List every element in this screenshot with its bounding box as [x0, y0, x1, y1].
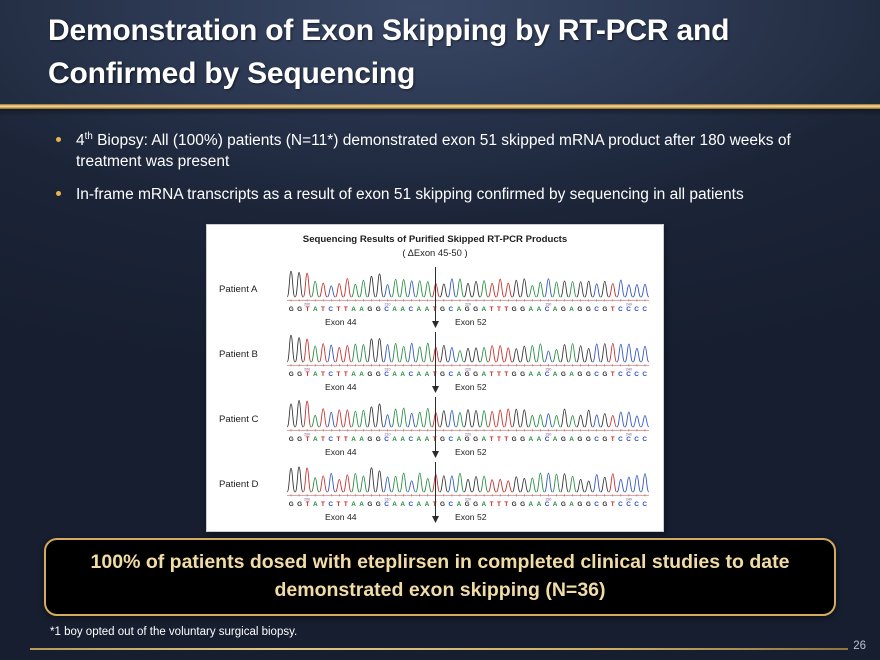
base-letter: A	[311, 436, 319, 447]
base-letter: C	[327, 501, 335, 512]
base-letter: G	[559, 501, 567, 512]
base-letter: C	[327, 306, 335, 317]
base-letter: A	[568, 436, 576, 447]
base-letter: T	[503, 371, 510, 382]
base-letter: G	[287, 501, 295, 512]
base-letter: G	[366, 371, 374, 382]
base-letter: A	[415, 306, 423, 317]
exon-right-label: Exon 52	[455, 382, 487, 392]
base-letter: C	[543, 501, 551, 512]
junction-arrow-icon	[429, 502, 442, 524]
base-letter: G	[559, 436, 567, 447]
base-letter: C	[593, 306, 601, 317]
exon-right-label: Exon 52	[455, 317, 487, 327]
table-row: Patient C 200210220230240 GGTATCTTAAGGCA…	[207, 393, 664, 458]
base-letter: A	[311, 501, 319, 512]
patient-label: Patient B	[219, 349, 258, 360]
base-letter: T	[495, 501, 502, 512]
base-letter: G	[510, 371, 518, 382]
base-letter: A	[480, 501, 488, 512]
base-letter: C	[327, 371, 335, 382]
base-letter: G	[374, 501, 382, 512]
base-letter: C	[593, 501, 601, 512]
junction-marker-line	[435, 267, 436, 307]
slide-root: Demonstration of Exon Skipping by RT-PCR…	[0, 0, 880, 660]
base-letter: C	[641, 371, 649, 382]
page-number: 26	[853, 640, 866, 652]
table-row: Patient D 200210220230240 GGTATCTTAAGGCA…	[207, 458, 664, 523]
bullet-superscript: th	[85, 131, 93, 142]
base-letter: T	[335, 436, 342, 447]
base-letter: T	[495, 306, 502, 317]
chromatogram-trace	[287, 462, 649, 496]
base-letter: A	[551, 306, 559, 317]
base-letter: A	[480, 371, 488, 382]
base-letter: C	[543, 436, 551, 447]
base-letter: C	[624, 501, 632, 512]
base-letter: C	[641, 501, 649, 512]
base-letter: G	[601, 501, 609, 512]
base-letter: C	[633, 371, 641, 382]
base-letter: A	[391, 371, 399, 382]
base-call-sequence: GGTATCTTAAGGCAACAATGCAGGATTTGGAACAGAGGCG…	[287, 501, 649, 512]
exon-right-label: Exon 52	[455, 512, 487, 522]
base-letter: T	[495, 436, 502, 447]
callout-text: 100% of patients dosed with eteplirsen i…	[80, 549, 800, 604]
base-letter: G	[518, 501, 526, 512]
base-letter: A	[551, 501, 559, 512]
footnote: *1 boy opted out of the voluntary surgic…	[50, 626, 297, 638]
base-letter: C	[593, 436, 601, 447]
base-position-ladder: 200210220230240	[287, 299, 649, 306]
figure-title: Sequencing Results of Purified Skipped R…	[207, 233, 663, 247]
base-letter: A	[568, 371, 576, 382]
base-letter: C	[447, 306, 455, 317]
base-letter: G	[366, 501, 374, 512]
figure-subtitle: ( ΔExon 45-50 )	[207, 246, 663, 260]
base-letter: G	[576, 371, 584, 382]
base-letter: G	[463, 306, 471, 317]
base-letter: C	[641, 306, 649, 317]
base-letter: C	[633, 501, 641, 512]
base-letter: A	[391, 306, 399, 317]
slide-header: Demonstration of Exon Skipping by RT-PCR…	[0, 0, 880, 104]
base-letter: G	[559, 371, 567, 382]
base-call-sequence: GGTATCTTAAGGCAACAATGCAGGATTTGGAACAGAGGCG…	[287, 436, 649, 447]
base-letter: G	[295, 306, 303, 317]
base-letter: C	[641, 436, 649, 447]
base-letter: G	[584, 371, 592, 382]
base-call-sequence: GGTATCTTAAGGCAACAATGCAGGATTTGGAACAGAGGCG…	[287, 306, 649, 317]
base-letter: A	[455, 306, 463, 317]
base-letter: T	[488, 306, 495, 317]
base-letter: A	[399, 436, 407, 447]
base-letter: A	[527, 501, 535, 512]
base-letter: C	[543, 306, 551, 317]
base-letter: C	[633, 306, 641, 317]
footer-gold-divider	[30, 648, 848, 650]
base-letter: C	[383, 306, 391, 317]
base-letter: A	[568, 501, 576, 512]
base-letter: G	[295, 501, 303, 512]
base-letter: C	[383, 436, 391, 447]
exon-left-label: Exon 44	[325, 382, 357, 392]
base-letter: C	[383, 371, 391, 382]
base-letter: G	[518, 371, 526, 382]
base-letter: T	[319, 501, 326, 512]
base-letter: T	[342, 436, 349, 447]
base-letter: T	[488, 436, 495, 447]
base-letter: C	[407, 501, 415, 512]
base-letter: T	[342, 501, 349, 512]
base-letter: G	[471, 371, 479, 382]
base-letter: A	[358, 371, 366, 382]
base-letter: A	[551, 371, 559, 382]
base-letter: G	[584, 306, 592, 317]
base-letter: G	[366, 306, 374, 317]
base-letter: G	[287, 306, 295, 317]
patient-label: Patient D	[219, 479, 258, 490]
base-letter: G	[463, 501, 471, 512]
base-letter: G	[471, 436, 479, 447]
bullet-prefix: 4	[76, 132, 85, 149]
base-letter: A	[358, 306, 366, 317]
bullet-text: Biopsy: All (100%) patients (N=11*) demo…	[76, 132, 791, 170]
base-letter: A	[349, 306, 357, 317]
base-letter: G	[366, 436, 374, 447]
base-letter: T	[335, 306, 342, 317]
base-letter: C	[407, 306, 415, 317]
base-letter: T	[335, 501, 342, 512]
base-letter: T	[304, 371, 311, 382]
base-letter: A	[399, 501, 407, 512]
base-letter: G	[518, 306, 526, 317]
base-letter: A	[415, 436, 423, 447]
sequencing-figure-panel: Sequencing Results of Purified Skipped R…	[206, 224, 664, 532]
base-letter: T	[342, 306, 349, 317]
base-letter: G	[601, 436, 609, 447]
base-letter: G	[374, 371, 382, 382]
base-letter: G	[374, 436, 382, 447]
base-letter: G	[559, 306, 567, 317]
base-position-ladder: 200210220230240	[287, 429, 649, 436]
bullet-dot-icon	[56, 137, 61, 142]
base-letter: A	[349, 501, 357, 512]
base-letter: G	[287, 436, 295, 447]
base-letter: T	[503, 306, 510, 317]
base-letter: A	[391, 501, 399, 512]
base-letter: T	[319, 306, 326, 317]
base-letter: A	[349, 436, 357, 447]
base-letter: C	[616, 501, 624, 512]
chromatogram-trace	[287, 397, 649, 431]
base-letter: C	[407, 371, 415, 382]
patient-label: Patient C	[219, 414, 258, 425]
bullet-dot-icon	[56, 191, 61, 196]
base-letter: T	[609, 436, 616, 447]
base-letter: G	[510, 501, 518, 512]
list-item: In-frame mRNA transcripts as a result of…	[52, 184, 852, 205]
base-letter: T	[609, 501, 616, 512]
base-letter: T	[304, 436, 311, 447]
base-letter: G	[601, 371, 609, 382]
base-letter: G	[576, 501, 584, 512]
base-letter: G	[295, 371, 303, 382]
base-letter: A	[455, 501, 463, 512]
base-letter: G	[584, 501, 592, 512]
exon-right-label: Exon 52	[455, 447, 487, 457]
base-letter: A	[358, 501, 366, 512]
base-call-sequence: GGTATCTTAAGGCAACAATGCAGGATTTGGAACAGAGGCG…	[287, 371, 649, 382]
junction-arrow-icon	[429, 437, 442, 459]
base-letter: C	[633, 436, 641, 447]
base-letter: A	[535, 306, 543, 317]
base-letter: A	[391, 436, 399, 447]
base-letter: G	[295, 436, 303, 447]
base-letter: G	[576, 306, 584, 317]
base-letter: G	[471, 306, 479, 317]
base-letter: C	[624, 371, 632, 382]
chromatogram-trace	[287, 332, 649, 366]
base-letter: A	[415, 501, 423, 512]
base-letter: G	[471, 501, 479, 512]
table-row: Patient A 200210220230240 GGTATCTTAAGGCA…	[207, 263, 664, 328]
base-letter: A	[399, 306, 407, 317]
base-letter: A	[415, 371, 423, 382]
base-letter: A	[551, 436, 559, 447]
table-row: Patient B 200210220230240 GGTATCTTAAGGCA…	[207, 328, 664, 393]
base-letter: A	[311, 306, 319, 317]
base-letter: A	[455, 371, 463, 382]
base-letter: C	[447, 436, 455, 447]
junction-arrow-icon	[429, 307, 442, 329]
exon-left-label: Exon 44	[325, 317, 357, 327]
base-letter: A	[535, 371, 543, 382]
junction-arrow-icon	[429, 372, 442, 394]
base-letter: T	[319, 436, 326, 447]
base-letter: C	[624, 436, 632, 447]
base-letter: A	[358, 436, 366, 447]
base-letter: G	[510, 306, 518, 317]
exon-left-label: Exon 44	[325, 512, 357, 522]
base-letter: C	[593, 371, 601, 382]
base-letter: T	[342, 371, 349, 382]
base-letter: G	[287, 371, 295, 382]
exon-left-label: Exon 44	[325, 447, 357, 457]
key-message-callout: 100% of patients dosed with eteplirsen i…	[44, 538, 836, 616]
base-letter: T	[304, 501, 311, 512]
base-letter: A	[527, 371, 535, 382]
base-letter: T	[495, 371, 502, 382]
base-letter: A	[480, 306, 488, 317]
base-letter: G	[374, 306, 382, 317]
base-position-ladder: 200210220230240	[287, 494, 649, 501]
base-letter: C	[624, 306, 632, 317]
base-letter: A	[568, 306, 576, 317]
base-letter: A	[480, 436, 488, 447]
junction-marker-line	[435, 397, 436, 437]
base-letter: C	[616, 306, 624, 317]
base-letter: A	[527, 436, 535, 447]
base-letter: G	[463, 371, 471, 382]
base-letter: T	[488, 371, 495, 382]
base-letter: C	[447, 371, 455, 382]
bullet-list: 4th Biopsy: All (100%) patients (N=11*) …	[52, 130, 852, 216]
trace-row-group: Patient A 200210220230240 GGTATCTTAAGGCA…	[207, 263, 664, 523]
base-letter: T	[488, 501, 495, 512]
header-shadow	[0, 109, 880, 116]
base-letter: G	[584, 436, 592, 447]
base-letter: T	[609, 371, 616, 382]
base-letter: T	[609, 306, 616, 317]
base-letter: A	[455, 436, 463, 447]
base-letter: A	[399, 371, 407, 382]
base-letter: T	[503, 501, 510, 512]
base-letter: G	[518, 436, 526, 447]
base-letter: C	[616, 436, 624, 447]
base-letter: T	[335, 371, 342, 382]
base-letter: A	[535, 436, 543, 447]
base-letter: C	[407, 436, 415, 447]
base-letter: C	[327, 436, 335, 447]
base-letter: C	[543, 371, 551, 382]
base-letter: A	[535, 501, 543, 512]
base-letter: A	[349, 371, 357, 382]
page-title: Demonstration of Exon Skipping by RT-PCR…	[48, 10, 838, 95]
base-letter: G	[463, 436, 471, 447]
junction-marker-line	[435, 332, 436, 372]
base-letter: A	[311, 371, 319, 382]
base-letter: C	[616, 371, 624, 382]
base-letter: T	[319, 371, 326, 382]
base-letter: T	[304, 306, 311, 317]
base-letter: G	[576, 436, 584, 447]
base-letter: A	[527, 306, 535, 317]
base-letter: T	[503, 436, 510, 447]
junction-marker-line	[435, 462, 436, 502]
bullet-text: In-frame mRNA transcripts as a result of…	[76, 186, 744, 203]
list-item: 4th Biopsy: All (100%) patients (N=11*) …	[52, 130, 852, 173]
base-position-ladder: 200210220230240	[287, 364, 649, 371]
base-letter: G	[601, 306, 609, 317]
base-letter: C	[383, 501, 391, 512]
chromatogram-trace	[287, 267, 649, 301]
base-letter: C	[447, 501, 455, 512]
base-letter: G	[510, 436, 518, 447]
patient-label: Patient A	[219, 284, 257, 295]
